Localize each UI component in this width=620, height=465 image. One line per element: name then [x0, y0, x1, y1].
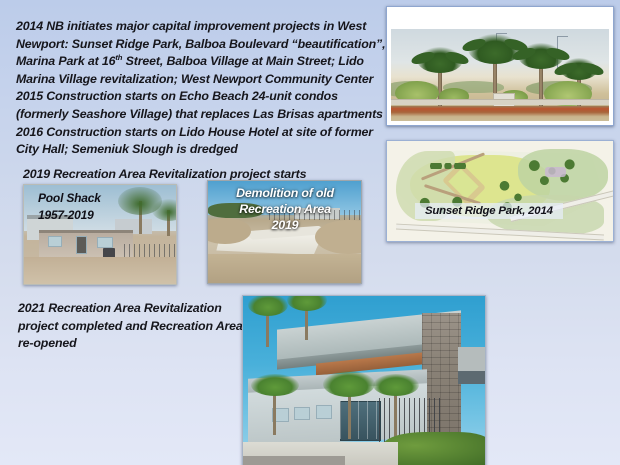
narrative-line-3-pre: Marina Park at 16 — [16, 54, 115, 68]
right-wing-shadow — [458, 371, 485, 385]
pool-shack-caption-line-1: Pool Shack — [38, 190, 101, 207]
driveway-asphalt — [243, 456, 345, 465]
palm-crown — [373, 374, 419, 396]
parking-area — [545, 167, 565, 177]
narrative-line-8: City Hall; Semeniuk Slough is dredged — [16, 141, 388, 159]
narrative-line-7: 2016 Construction starts on Lido House H… — [16, 124, 388, 142]
photo-demolition: Demolition of old Recreation Area 2019 — [207, 180, 362, 284]
palm-tree — [287, 295, 327, 340]
palm-crown — [248, 295, 288, 316]
palm-trunk — [394, 391, 397, 439]
narrative-line-3-post: Street, Balboa Village at Main Street; L… — [122, 54, 364, 68]
tree-cluster — [428, 163, 469, 169]
closing-line-2: project completed and Recreation Area — [18, 318, 243, 336]
palm-crown — [560, 58, 598, 80]
narrative-spacer — [16, 159, 388, 166]
demolition-caption-line-2: Recreation Area — [216, 201, 354, 217]
dirt-ground — [208, 254, 361, 283]
palm-crown — [518, 43, 564, 69]
flower-bed — [391, 106, 609, 121]
palm-tree — [253, 374, 297, 435]
building-window — [97, 237, 113, 248]
photo-community-center — [242, 295, 486, 465]
palm-crown — [251, 374, 299, 396]
narrative-line-2: Newport: Sunset Ridge Park, Balboa Boule… — [16, 36, 388, 54]
photo-sunset-ridge-park-map: Sunset Ridge Park, 2014 — [386, 140, 614, 242]
narrative-line-3: Marina Park at 16th Street, Balboa Villa… — [16, 53, 388, 71]
chain-link-fence — [124, 244, 176, 258]
landscape-shrubs — [383, 432, 486, 465]
presentation-slide: 2014 NB initiates major capital improvem… — [0, 0, 620, 465]
palm-crown — [323, 371, 375, 397]
photo-balboa-blvd: Balboa Blvd Beautification, 2014 — [386, 6, 614, 126]
photo-pool-shack: Pool Shack 1957-2019 — [23, 184, 177, 285]
building-door — [76, 236, 87, 254]
photo-caption-sunset-ridge: Sunset Ridge Park, 2014 — [415, 203, 563, 219]
dirt-ground — [24, 257, 176, 284]
palm-tree — [152, 199, 177, 237]
closing-line-3: re-opened — [18, 335, 243, 353]
building-window — [48, 236, 62, 247]
palm-crown — [287, 295, 327, 311]
park-site-plan — [387, 141, 613, 241]
closing-line-1: 2021 Recreation Area Revitalization — [18, 300, 243, 318]
right-wing — [458, 347, 485, 371]
balboa-scene — [391, 29, 609, 121]
palm-tree — [248, 296, 288, 347]
narrative-text-block: 2014 NB initiates major capital improvem… — [16, 18, 388, 183]
balboa-caption-bar — [387, 7, 613, 29]
photo-caption-demolition: Demolition of old Recreation Area 2019 — [216, 185, 354, 233]
closing-text-block: 2021 Recreation Area Revitalization proj… — [18, 300, 243, 353]
demolition-caption-line-3: 2019 — [216, 217, 354, 233]
narrative-line-6: (formerly Seashore Village) that replace… — [16, 106, 388, 124]
palm-crown — [417, 47, 463, 73]
street-curb — [391, 99, 609, 105]
pool-shack-caption-line-2: 1957-2019 — [38, 207, 101, 224]
narrative-line-4: Marina Village revitalization; West Newp… — [16, 71, 388, 89]
palm-tree — [374, 374, 418, 439]
palm-crown — [152, 199, 177, 221]
palm-tree — [325, 371, 373, 439]
photo-caption-pool-shack: Pool Shack 1957-2019 — [38, 190, 101, 224]
palm-trunk — [273, 390, 276, 435]
narrative-line-5: 2015 Construction starts on Echo Beach 2… — [16, 88, 388, 106]
demolition-caption-line-1: Demolition of old — [216, 185, 354, 201]
narrative-line-1: 2014 NB initiates major capital improvem… — [16, 18, 388, 36]
